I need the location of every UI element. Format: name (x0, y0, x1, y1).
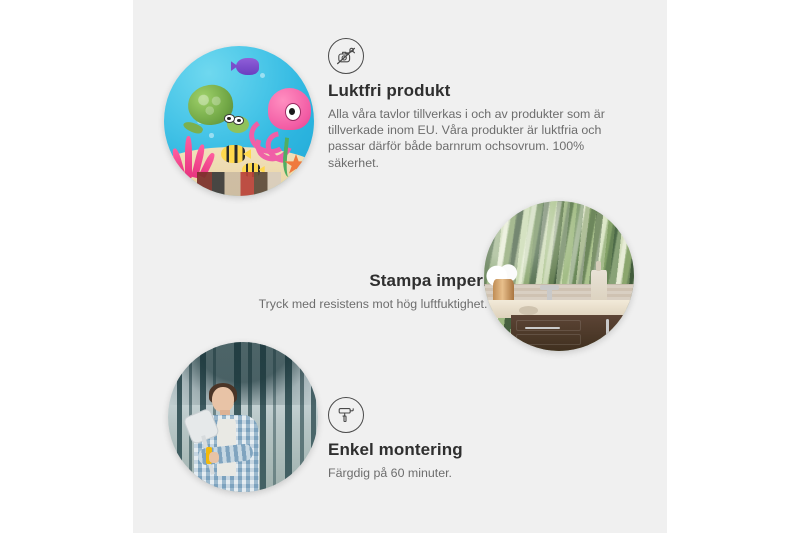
feature-block-easy-install: Enkel montering Färgdig på 60 minuter. (328, 397, 578, 481)
icon-wrapper (328, 38, 628, 74)
photo-bathroom-image (484, 201, 634, 351)
page-canvas: Luktfri produkt Alla våra tavlor tillver… (0, 0, 800, 533)
feature-title: Luktfri produkt (328, 81, 628, 101)
content-panel: Luktfri produkt Alla våra tavlor tillver… (133, 0, 667, 533)
vanity-cabinet (511, 315, 628, 351)
cabinet-drawer (516, 320, 581, 331)
icon-wrapper (328, 397, 578, 433)
photo-forest-image (168, 342, 318, 492)
woman-figure (189, 387, 267, 492)
no-spray-bottle-icon (328, 38, 364, 74)
head (212, 387, 234, 412)
photo-bathroom[interactable] (484, 201, 634, 351)
purple-fish-icon (236, 58, 259, 75)
turtle-eye (233, 116, 244, 125)
photo-ocean[interactable] (164, 46, 314, 196)
drawer-handle (525, 327, 560, 329)
yellow-fish-icon (221, 145, 245, 163)
paint-roller-icon (328, 397, 364, 433)
turtle-eye (224, 114, 235, 123)
photo-forest[interactable] (168, 342, 318, 492)
bubble-icon (260, 73, 265, 78)
photo-bottom-strip (197, 172, 281, 196)
feature-description: Färgdig på 60 minuter. (328, 465, 578, 481)
soap-dish (519, 306, 539, 315)
sea-turtle-icon (181, 85, 247, 136)
cabinet-handle (606, 319, 610, 344)
feature-description: Alla våra tavlor tillverkas i och av pro… (328, 106, 628, 171)
feature-block-odorless: Luktfri produkt Alla våra tavlor tillver… (328, 38, 628, 171)
octopus-icon (251, 88, 311, 151)
feature-title: Enkel montering (328, 440, 578, 460)
hand (209, 452, 218, 463)
photo-ocean-image (164, 46, 314, 196)
cabinet-drawer (516, 334, 581, 345)
